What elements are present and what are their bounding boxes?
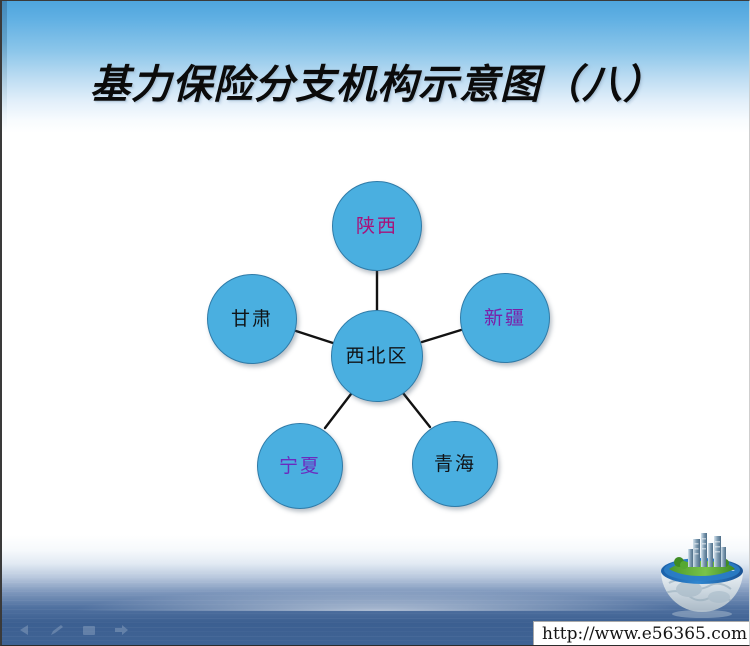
node-label-shaanxi: 陕西: [356, 216, 398, 236]
node-label-xinjiang: 新疆: [484, 308, 526, 328]
pen-icon[interactable]: [48, 623, 66, 637]
watermark-url-box[interactable]: http://www.e56365.com: [533, 621, 750, 646]
node-label-center: 西北区: [345, 346, 408, 366]
node-qinghai[interactable]: 青海: [412, 421, 498, 507]
connector-center-gansu: [296, 331, 333, 343]
connector-center-xinjiang: [422, 330, 461, 342]
watermark-url-text: http://www.e56365.com: [542, 624, 747, 644]
connector-center-ningxia: [325, 394, 351, 428]
previous-slide-icon[interactable]: [16, 623, 34, 637]
node-label-ningxia: 宁夏: [279, 456, 321, 476]
connector-center-qinghai: [403, 393, 430, 427]
next-slide-icon[interactable]: [112, 623, 130, 637]
node-shaanxi[interactable]: 陕西: [332, 181, 422, 271]
node-gansu[interactable]: 甘肃: [207, 274, 297, 364]
node-ningxia[interactable]: 宁夏: [257, 423, 343, 509]
node-label-gansu: 甘肃: [231, 309, 273, 329]
node-label-qinghai: 青海: [434, 454, 476, 474]
globe-city-logo: [657, 531, 747, 619]
presentation-slide: 基力保险分支机构示意图（八） 陕西 甘肃 新疆 宁夏 青海: [0, 0, 750, 646]
org-chart-diagram: 陕西 甘肃 新疆 宁夏 青海 西北区: [2, 1, 750, 646]
slideshow-controls[interactable]: [16, 623, 130, 637]
node-xinjiang[interactable]: 新疆: [460, 273, 550, 363]
node-center-northwest-region[interactable]: 西北区: [331, 310, 423, 402]
slide-menu-icon[interactable]: [80, 623, 98, 637]
